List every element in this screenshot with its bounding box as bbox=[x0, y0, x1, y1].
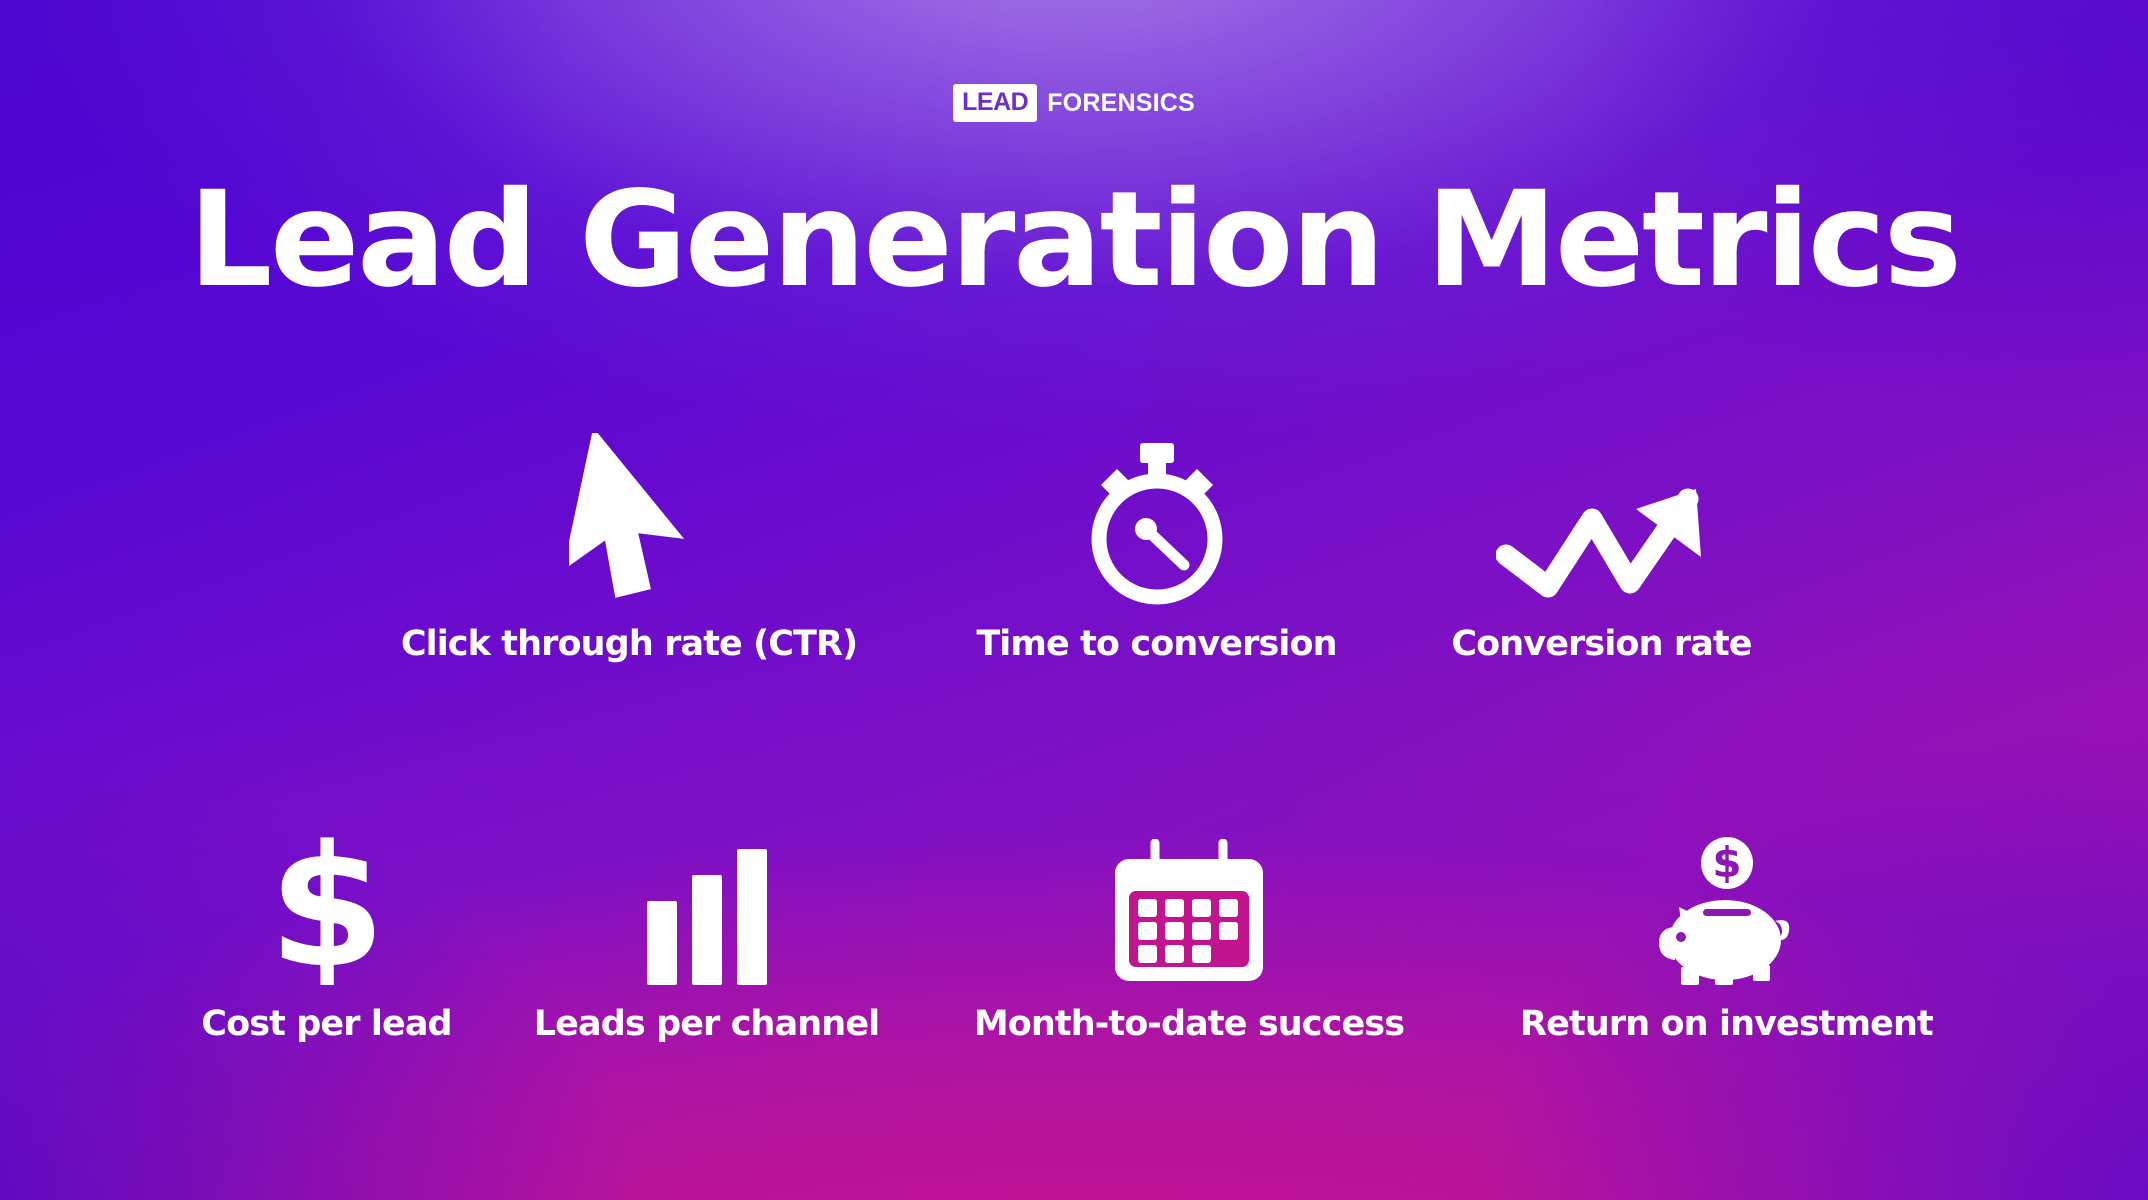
infographic-poster: LEAD FORENSICS Lead Generation Metrics bbox=[0, 0, 2148, 1200]
trending-up-arrow-icon bbox=[1496, 483, 1708, 605]
svg-text:$: $ bbox=[1712, 838, 1741, 887]
metric-leads-per-channel: Leads per channel bbox=[497, 800, 917, 1042]
metrics-row-top: Click through rate (CTR) bbox=[0, 420, 2148, 662]
dollar-sign-icon: $ bbox=[271, 825, 383, 985]
metric-icon-wrap bbox=[1111, 800, 1267, 985]
mouse-cursor-icon bbox=[569, 433, 689, 605]
metric-cost-per-lead: $ Cost per lead bbox=[157, 800, 497, 1042]
metrics-row-bottom: $ Cost per lead bbox=[0, 800, 2148, 1042]
metric-label: Time to conversion bbox=[976, 627, 1336, 662]
metric-icon-wrap: $ bbox=[1657, 800, 1797, 985]
metric-label: Month-to-date success bbox=[974, 1007, 1404, 1042]
metric-time-to-conversion: Time to conversion bbox=[922, 420, 1392, 662]
metric-label: Leads per channel bbox=[534, 1007, 880, 1042]
metric-click-through-rate: Click through rate (CTR) bbox=[337, 420, 922, 662]
brand-logo: LEAD FORENSICS bbox=[953, 84, 1195, 122]
logo-mark-lead: LEAD bbox=[953, 84, 1037, 122]
metric-return-on-investment: $ bbox=[1462, 800, 1992, 1042]
metric-icon-wrap bbox=[569, 420, 689, 605]
metric-icon-wrap: $ bbox=[271, 800, 383, 985]
metric-icon-wrap bbox=[1084, 420, 1230, 605]
logo-word-forensics: FORENSICS bbox=[1047, 91, 1195, 116]
metric-label: Click through rate (CTR) bbox=[401, 627, 857, 662]
metric-icon-wrap bbox=[1496, 420, 1708, 605]
metric-label: Cost per lead bbox=[201, 1007, 451, 1042]
metric-month-to-date-success: Month-to-date success bbox=[917, 800, 1462, 1042]
metric-label: Return on investment bbox=[1520, 1007, 1933, 1042]
page-title: Lead Generation Metrics bbox=[188, 174, 1959, 306]
metric-icon-wrap bbox=[645, 800, 769, 985]
svg-text:$: $ bbox=[271, 825, 383, 985]
poster-content: LEAD FORENSICS Lead Generation Metrics bbox=[0, 0, 2148, 1200]
bar-chart-icon bbox=[645, 849, 769, 985]
piggy-bank-icon: $ bbox=[1657, 835, 1797, 985]
metric-label: Conversion rate bbox=[1451, 627, 1751, 662]
calendar-icon bbox=[1111, 839, 1267, 985]
stopwatch-icon bbox=[1084, 441, 1230, 605]
metric-conversion-rate: Conversion rate bbox=[1392, 420, 1812, 662]
